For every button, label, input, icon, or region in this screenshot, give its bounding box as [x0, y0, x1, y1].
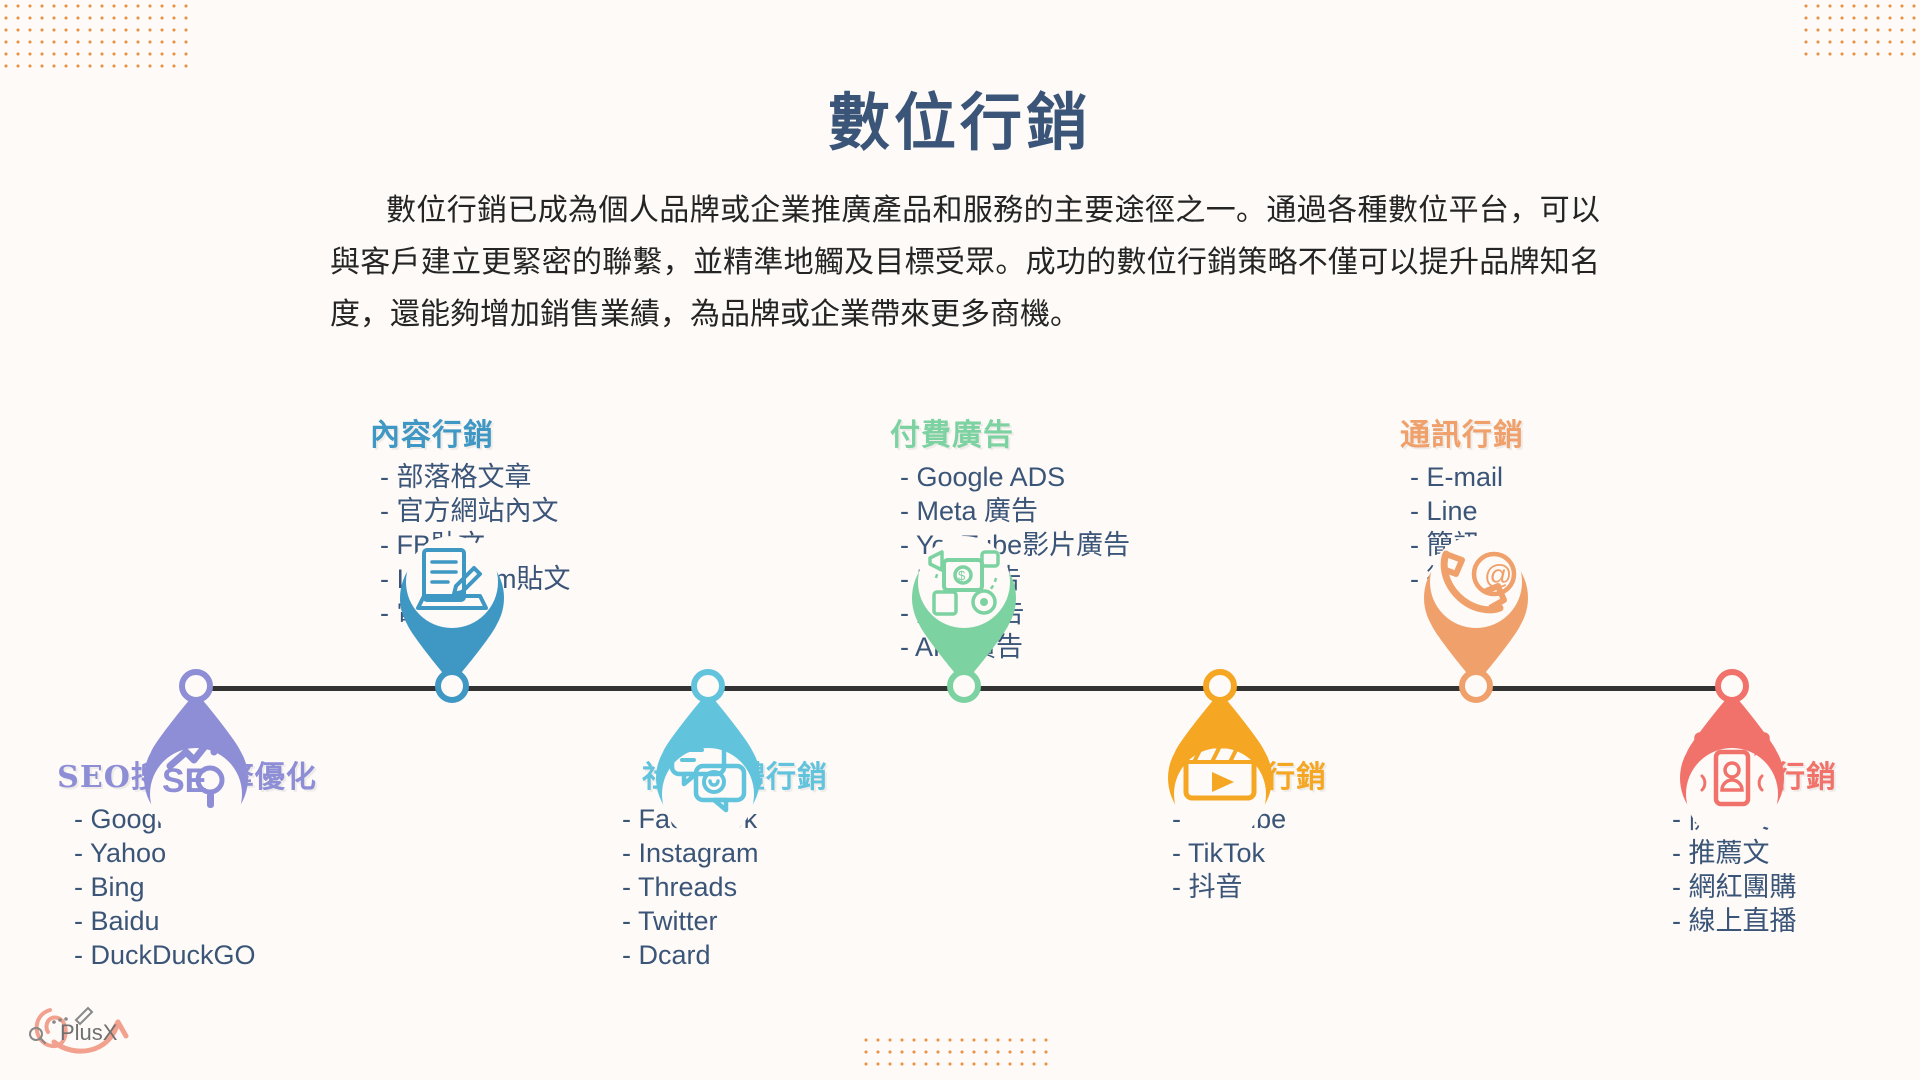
- page-title: 數位行銷: [0, 72, 1920, 162]
- svg-text:$: $: [958, 568, 966, 583]
- list-item: Dcard: [622, 938, 870, 972]
- pluzx-logo: PlusX: [18, 992, 148, 1062]
- list-item: 線上直播: [1672, 904, 1900, 938]
- svg-text:@: @: [1484, 559, 1512, 590]
- dot-pattern-top-right: [1800, 0, 1920, 62]
- block-heading-paid-ads: 付費廣告: [890, 410, 1150, 454]
- list-item: Baidu: [74, 904, 322, 938]
- dot-pattern-top-left: [0, 0, 188, 70]
- timeline-node-video[interactable]: [1203, 669, 1237, 703]
- pin-paid-ads[interactable]: $: [889, 498, 1039, 688]
- timeline-node-influencer[interactable]: [1715, 669, 1749, 703]
- pin-content[interactable]: [377, 498, 527, 688]
- pin-video[interactable]: [1145, 688, 1295, 878]
- svg-text:PlusX: PlusX: [60, 1020, 118, 1045]
- list-item: DuckDuckGO: [74, 938, 322, 972]
- timeline-node-social[interactable]: [691, 669, 725, 703]
- pin-social[interactable]: [633, 688, 783, 878]
- intro-paragraph: 數位行銷已成為個人品牌或企業推廣產品和服務的主要途徑之一。通過各種數位平台，可以…: [330, 185, 1600, 341]
- timeline-node-seo[interactable]: [179, 669, 213, 703]
- block-heading-messaging: 通訊行銷: [1400, 410, 1630, 454]
- list-item: 部落格文章: [380, 460, 620, 494]
- list-item: E-mail: [1410, 460, 1630, 494]
- block-heading-content: 內容行銷: [370, 410, 620, 454]
- pin-messaging[interactable]: @: [1401, 498, 1551, 688]
- svg-text:SE: SE: [162, 762, 207, 800]
- list-item: Twitter: [622, 904, 870, 938]
- timeline-node-messaging[interactable]: [1459, 669, 1493, 703]
- timeline-node-content[interactable]: [435, 669, 469, 703]
- pin-seo[interactable]: SE: [121, 688, 271, 878]
- dot-pattern-bottom: [860, 1034, 1050, 1074]
- timeline-node-paid-ads[interactable]: [947, 669, 981, 703]
- pin-influencer[interactable]: [1657, 688, 1807, 878]
- list-item: Google ADS: [900, 460, 1150, 494]
